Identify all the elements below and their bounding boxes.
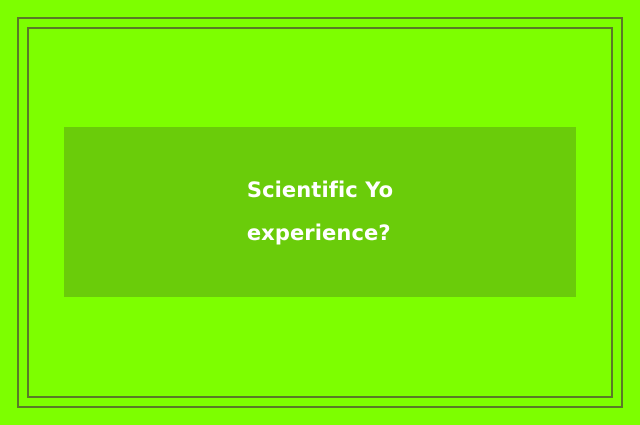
slide-canvas: Scientific Yo experience? [0,0,640,425]
headline-line-1: Scientific Yo [247,169,393,212]
headline-text-block: Scientific Yo experience? [247,169,393,255]
content-panel: Scientific Yo experience? [64,127,576,297]
headline-line-2: experience? [247,212,393,255]
